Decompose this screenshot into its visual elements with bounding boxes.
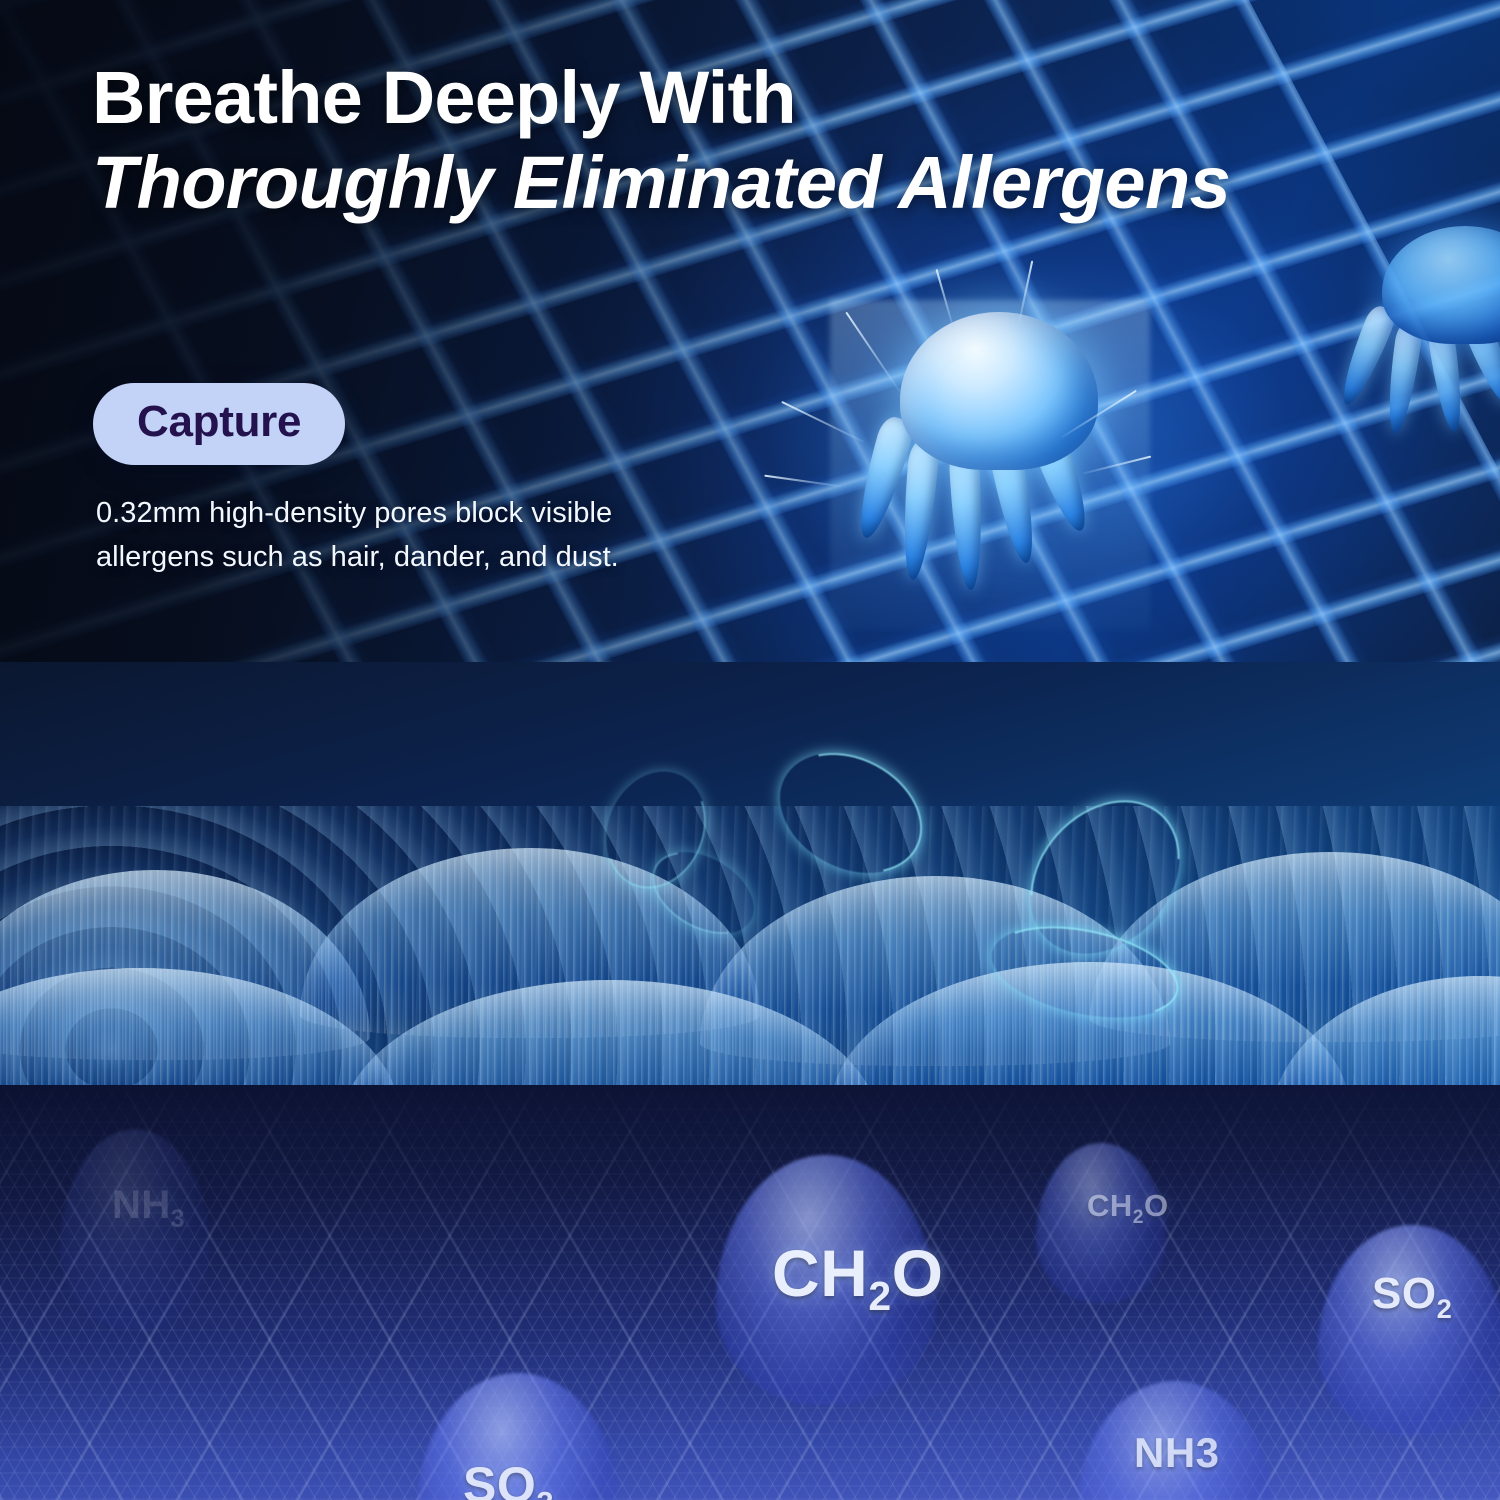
badge-capture: Capture	[93, 383, 345, 465]
dust-mite-primary	[848, 312, 1148, 612]
headline-line-2: Thoroughly Eliminated Allergens	[92, 138, 1372, 228]
molecule-label: CH2O	[1087, 1190, 1169, 1227]
molecule-label: NH3	[112, 1185, 185, 1233]
panel-filtration: Filtration 99.97%2 electrostatic capture…	[0, 662, 1500, 1085]
body-text-capture: 0.32mm high-density pores block visible …	[96, 492, 736, 579]
allergen-feature-poster: Breathe Deeply With Thoroughly Eliminate…	[0, 0, 1500, 1500]
panel-capture: Breathe Deeply With Thoroughly Eliminate…	[0, 0, 1500, 662]
page-headline: Breathe Deeply With Thoroughly Eliminate…	[92, 58, 1372, 228]
molecule-label: CH2O	[772, 1240, 943, 1317]
molecule-label: NH3	[1134, 1432, 1220, 1474]
fiber-ridge	[340, 980, 880, 1085]
headline-line-1: Breathe Deeply With	[92, 58, 1372, 138]
panel-adsorption: Adsorption 98.83%3 multi-carbon adsorpti…	[0, 1085, 1500, 1500]
dust-mite-secondary-body	[1382, 226, 1500, 344]
dust-mite-secondary	[1346, 226, 1500, 416]
dust-mite-body	[900, 312, 1098, 470]
fiber-ridge	[1270, 976, 1500, 1085]
molecule-label: SO2	[1372, 1272, 1452, 1322]
molecule-label: SO2	[463, 1460, 554, 1500]
